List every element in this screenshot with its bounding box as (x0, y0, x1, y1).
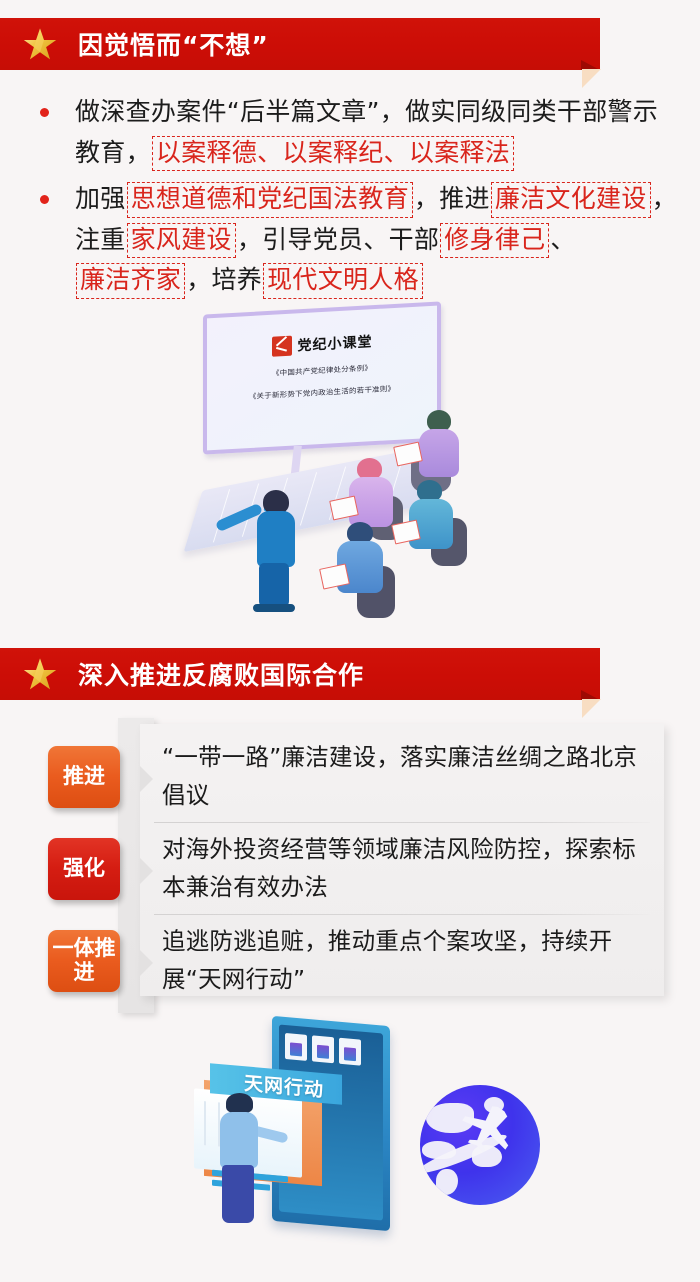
section1-banner: 因觉悟而“不想” (0, 18, 600, 70)
bullet-text: 加强思想道德和党纪国法教育，推进廉洁文化建设，注重家风建设，引导党员、干部修身律… (75, 179, 680, 301)
whiteboard-line: 《关于新形势下党内政治生活的若干准则》 (207, 381, 437, 404)
person-head (226, 1093, 253, 1113)
list-divider (154, 822, 650, 823)
thumbnail-icon (339, 1038, 361, 1066)
student-body (419, 429, 459, 477)
banner-fold-shadow (581, 60, 600, 70)
whiteboard-header: 党纪小课堂 (207, 328, 437, 361)
list-item-text: 追逃防逃追赃，推动重点个案攻坚，持续开展“天网行动” (162, 922, 652, 998)
bullet-highlight: 思想道德和党纪国法教育 (127, 182, 413, 218)
bullet-text: 做深查办案件“后半篇文章”，做实同级同类干部警示教育，以案释德、以案释纪、以案释… (75, 92, 680, 173)
party-emblem-icon (272, 336, 292, 357)
section1-title: 因觉悟而“不想” (78, 26, 269, 62)
list-item[interactable]: 追逃防逃追赃，推动重点个案攻坚，持续开展“天网行动” (140, 916, 664, 1004)
tab-label: 推进 (63, 765, 105, 789)
list-notch-icon (140, 950, 153, 976)
teacher-shoes (253, 604, 295, 612)
section2-banner: 深入推进反腐败国际合作 (0, 648, 600, 700)
list-content-panel: “一带一路”廉洁建设，落实廉洁丝绸之路北京倡议 对海外投资经营等领域廉洁风险防控… (140, 724, 664, 996)
infographic-page: 因觉悟而“不想” 做深查办案件“后半篇文章”，做实同级同类干部警示教育，以案释德… (0, 0, 700, 1282)
whiteboard-title: 党纪小课堂 (298, 331, 373, 355)
list-divider (154, 914, 650, 915)
tab-tuijin[interactable]: 推进 (48, 746, 120, 808)
person-legs (222, 1165, 254, 1223)
banner-fold-shadow (581, 690, 600, 700)
list-notch-icon (140, 766, 153, 792)
list-notch-icon (140, 858, 153, 884)
bullet-dot-icon (40, 195, 49, 204)
bullet-highlight: 修身律己 (440, 223, 549, 259)
gold-star-icon (22, 657, 58, 693)
whiteboard: 党纪小课堂 《中国共产党纪律处分条例》 《关于新形势下党内政治生活的若干准则》 (203, 301, 441, 454)
whiteboard-line: 《中国共产党纪律处分条例》 (207, 359, 437, 382)
phone-thumbnail-row (285, 1033, 361, 1066)
tab-label: 强化 (63, 857, 105, 881)
bullet-highlight: 廉洁齐家 (76, 263, 185, 299)
bullet-text-plain: ，推进 (414, 184, 490, 213)
thumbnail-icon (312, 1035, 334, 1063)
student-figure (405, 480, 467, 576)
section2-title: 深入推进反腐败国际合作 (78, 656, 364, 692)
list-item-text: 对海外投资经营等领域廉洁风险防控，探索标本兼治有效办法 (162, 830, 652, 906)
bullet-text-plain: ，培养 (186, 265, 262, 294)
bullet-text-plain: 、 (550, 225, 575, 254)
section2-item-list: “一带一路”廉洁建设，落实廉洁丝绸之路北京倡议 对海外投资经营等领域廉洁风险防控… (0, 718, 700, 1018)
teacher-body (257, 511, 295, 567)
tab-yitituijin[interactable]: 一体推进 (48, 930, 120, 992)
bullet-text-plain: 加强 (75, 184, 126, 213)
bullet-highlight: 以案释德、以案释纪、以案释法 (152, 136, 514, 172)
bullet-highlight: 现代文明人格 (263, 263, 423, 299)
tab-qianghua[interactable]: 强化 (48, 838, 120, 900)
classroom-training-illustration: 党纪小课堂 《中国共产党纪律处分条例》 《关于新形势下党内政治生活的若干准则》 (175, 300, 515, 620)
bullet-highlight: 家风建设 (127, 223, 236, 259)
thumbnail-icon (285, 1033, 307, 1061)
student-figure (335, 522, 401, 622)
section1-bullet-list: 做深查办案件“后半篇文章”，做实同级同类干部警示教育，以案释德、以案释纪、以案释… (0, 92, 700, 307)
skynet-operation-illustration: 天网行动 (230, 1025, 560, 1240)
tab-label: 一体推进 (48, 937, 120, 984)
bullet-text-plain: ，引导党员、干部 (237, 225, 439, 254)
bullet-item: 加强思想道德和党纪国法教育，推进廉洁文化建设，注重家风建设，引导党员、干部修身律… (0, 179, 700, 301)
teacher-figure (247, 490, 307, 608)
list-item-text: “一带一路”廉洁建设，落实廉洁丝绸之路北京倡议 (162, 738, 652, 814)
person-body (220, 1112, 258, 1168)
airplane-icon (458, 1103, 524, 1155)
gold-star-icon (22, 27, 58, 63)
list-item[interactable]: 对海外投资经营等领域廉洁风险防控，探索标本兼治有效办法 (140, 824, 664, 912)
bullet-item: 做深查办案件“后半篇文章”，做实同级同类干部警示教育，以案释德、以案释纪、以案释… (0, 92, 700, 173)
teacher-legs (259, 563, 289, 609)
bullet-dot-icon (40, 108, 49, 117)
list-item[interactable]: “一带一路”廉洁建设，落实廉洁丝绸之路北京倡议 (140, 732, 664, 820)
bullet-highlight: 廉洁文化建设 (491, 182, 651, 218)
person-figure (212, 1093, 276, 1229)
